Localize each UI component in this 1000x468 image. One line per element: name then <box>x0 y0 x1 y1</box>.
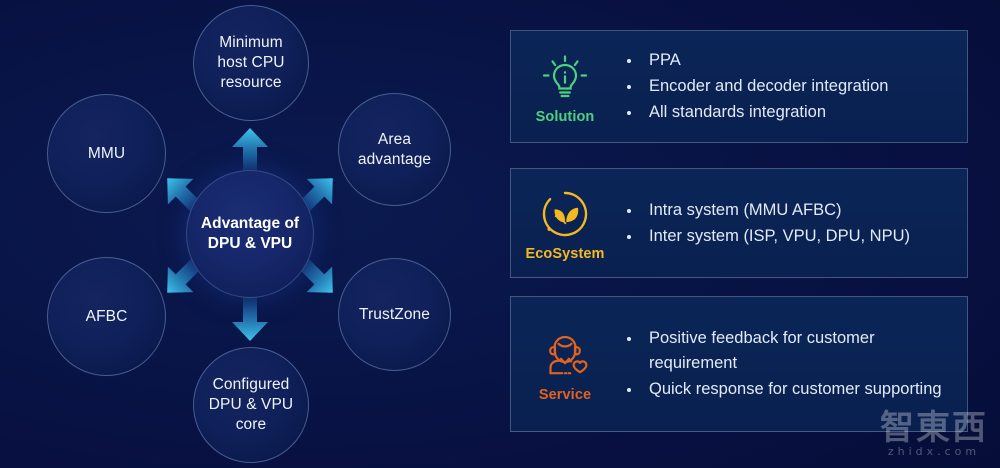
panel-solution-bullets: PPA Encoder and decoder integration All … <box>619 47 967 126</box>
panel-service[interactable]: Service Positive feedback for customer r… <box>510 296 968 432</box>
node-mmu[interactable]: MMU <box>47 94 166 213</box>
info-panels: Solution PPA Encoder and decoder integra… <box>500 0 1000 468</box>
panel-solution-icon-column: Solution <box>511 48 619 125</box>
node-label: Configured DPU & VPU core <box>209 375 293 435</box>
node-label: AFBC <box>86 307 128 327</box>
list-item: PPA <box>619 48 953 73</box>
node-minimum-host-cpu-resource[interactable]: Minimum host CPU resource <box>193 5 309 121</box>
node-label: MMU <box>88 144 125 164</box>
panel-ecosystem-caption: EcoSystem <box>525 246 604 262</box>
center-label: Advantage of DPU & VPU <box>201 214 299 254</box>
panel-ecosystem-icon-column: EcoSystem <box>511 185 619 262</box>
list-item: All standards integration <box>619 100 953 125</box>
node-label: TrustZone <box>359 305 430 325</box>
node-label: Area advantage <box>358 130 431 170</box>
node-center-advantage[interactable]: Advantage of DPU & VPU <box>186 170 314 298</box>
panel-ecosystem-bullets: Intra system (MMU AFBC) Inter system (IS… <box>619 197 967 250</box>
node-trustzone[interactable]: TrustZone <box>338 258 451 371</box>
panel-service-icon-column: Service <box>511 326 619 403</box>
list-item: Encoder and decoder integration <box>619 74 953 99</box>
list-item: Intra system (MMU AFBC) <box>619 198 953 223</box>
list-item: Quick response for customer supporting <box>619 377 953 402</box>
support-agent-heart-icon <box>539 328 591 382</box>
slide-canvas: Minimum host CPU resource Area advantage… <box>0 0 1000 468</box>
panel-solution-caption: Solution <box>536 109 595 125</box>
panel-ecosystem[interactable]: EcoSystem Intra system (MMU AFBC) Inter … <box>510 168 968 278</box>
node-configured-dpu-vpu-core[interactable]: Configured DPU & VPU core <box>193 347 309 463</box>
node-area-advantage[interactable]: Area advantage <box>338 93 451 206</box>
lightbulb-info-icon <box>540 50 590 104</box>
node-afbc[interactable]: AFBC <box>47 257 166 376</box>
panel-service-caption: Service <box>539 387 591 403</box>
advantage-radial-diagram: Minimum host CPU resource Area advantage… <box>0 0 500 468</box>
node-label: Minimum host CPU resource <box>217 33 284 93</box>
list-item: Positive feedback for customer requireme… <box>619 326 953 376</box>
panel-service-bullets: Positive feedback for customer requireme… <box>619 325 967 403</box>
panel-solution[interactable]: Solution PPA Encoder and decoder integra… <box>510 30 968 143</box>
list-item: Inter system (ISP, VPU, DPU, NPU) <box>619 224 953 249</box>
leaf-circle-icon <box>540 187 590 241</box>
